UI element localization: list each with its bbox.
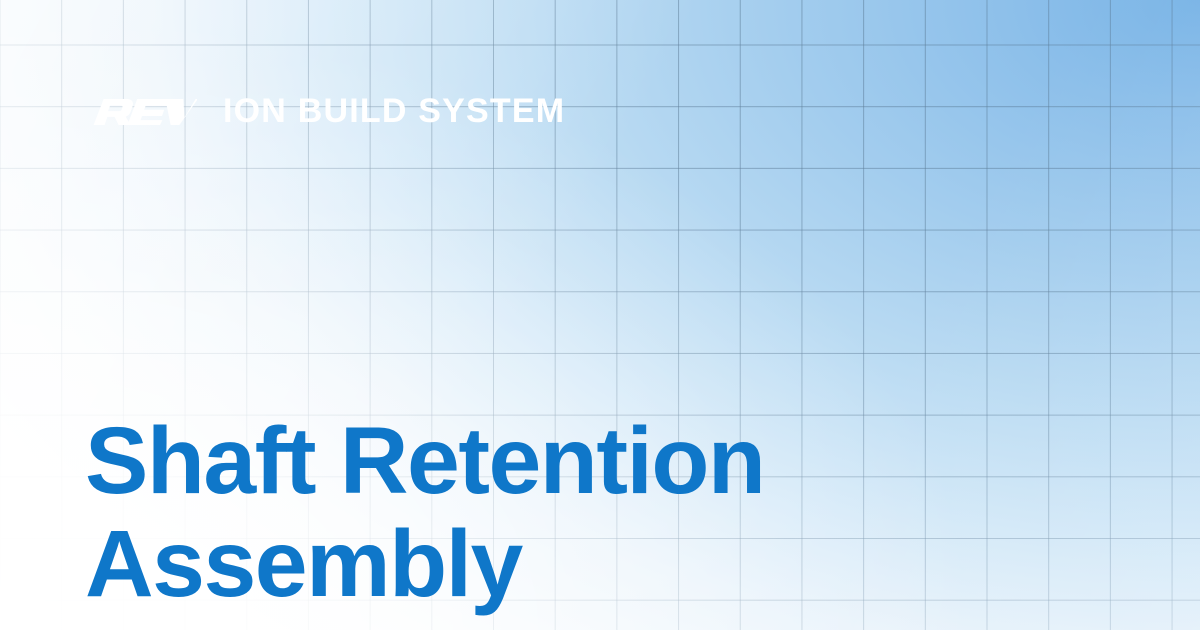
page-title-line-1: Shaft Retention (85, 410, 845, 513)
page-title-line-2: Assembly (85, 513, 845, 616)
page-title: Shaft Retention Assembly (85, 410, 845, 616)
brand-wordmark: ION BUILD SYSTEM (223, 91, 565, 131)
rev-logo-icon (85, 91, 197, 131)
brand-lockup: ION BUILD SYSTEM (85, 88, 565, 134)
cover-card: ION BUILD SYSTEM Shaft Retention Assembl… (0, 0, 1200, 630)
